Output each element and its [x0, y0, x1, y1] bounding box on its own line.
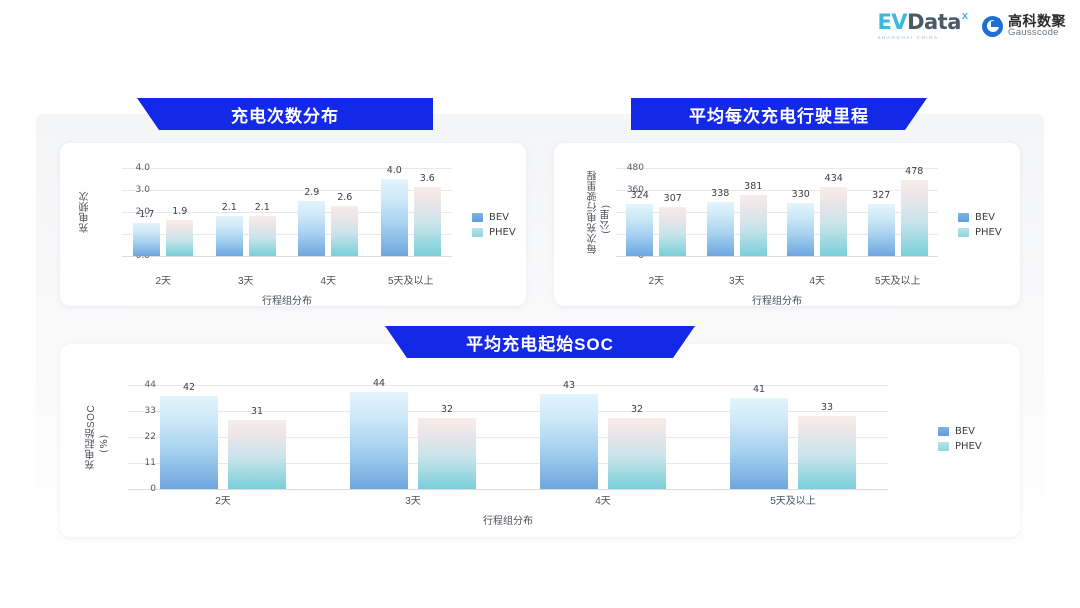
legend-item-phev[interactable]: PHEV [938, 439, 982, 454]
bar-value-label: 31 [251, 406, 263, 417]
bar-group: 4133 [698, 367, 888, 489]
bar-value-label: 44 [373, 378, 385, 389]
chart-3-x-tick-labels: 2天3天4天5天及以上 [128, 492, 888, 507]
slide-canvas: EVData x SHANGHAI CHINA 高科数聚 Gausscode 充… [0, 0, 1080, 608]
bar-value-label: 42 [183, 382, 195, 393]
bar-group: 4332 [508, 367, 698, 489]
bar-phev[interactable]: 31 [228, 420, 286, 489]
bar-bev[interactable]: 44 [350, 392, 408, 489]
x-tick-label: 5天及以上 [698, 492, 888, 507]
bar-bev[interactable]: 41 [730, 398, 788, 489]
bar-bev[interactable]: 42 [160, 396, 218, 489]
bar-value-label: 32 [631, 404, 643, 415]
chart-3-legend: BEVPHEV [938, 424, 982, 454]
chart-3-y-axis-unit: (%) [99, 404, 111, 484]
x-tick-label: 2天 [128, 492, 318, 507]
gridline [128, 489, 888, 490]
legend-swatch-bev-icon [938, 427, 949, 436]
x-tick-label: 4天 [508, 492, 698, 507]
chart-3-title-banner: 平均充电起始SOC [385, 326, 695, 358]
bar-value-label: 41 [753, 384, 765, 395]
bar-value-label: 43 [563, 380, 575, 391]
legend-label: PHEV [955, 441, 982, 452]
legend-item-bev[interactable]: BEV [938, 424, 982, 439]
chart-3-y-axis-title: 充电起始SOC [86, 382, 98, 492]
bar-value-label: 33 [821, 402, 833, 413]
legend-label: BEV [955, 426, 975, 437]
bar-phev[interactable]: 33 [798, 416, 856, 489]
x-tick-label: 3天 [318, 492, 508, 507]
chart-3-bars: 4231443243324133 [128, 367, 888, 489]
bar-group: 4432 [318, 367, 508, 489]
bar-group: 4231 [128, 367, 318, 489]
bar-phev[interactable]: 32 [418, 418, 476, 489]
legend-swatch-phev-icon [938, 442, 949, 451]
chart-3-x-axis-title: 行程组分布 [128, 512, 888, 527]
chart-1-title-banner: 充电次数分布 [137, 98, 433, 130]
bar-phev[interactable]: 32 [608, 418, 666, 489]
chart-3-plot: 充电起始SOC(%)44332211042314432433241332天3天4… [0, 0, 1080, 608]
chart-2-title-banner: 平均每次充电行驶里程 [631, 98, 927, 130]
bar-value-label: 32 [441, 404, 453, 415]
bar-bev[interactable]: 43 [540, 394, 598, 489]
